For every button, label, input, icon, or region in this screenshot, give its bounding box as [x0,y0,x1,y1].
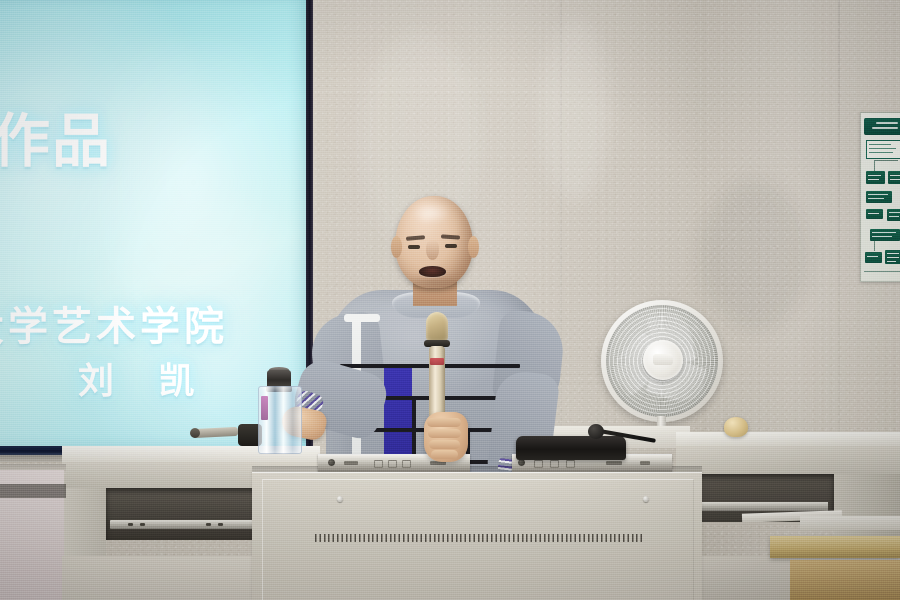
speaker-eye-right [445,244,457,248]
poster-note-box [866,140,900,159]
desk-left-slide-rail [110,520,260,529]
microphone-label [430,358,444,365]
finger [428,429,461,438]
rail-bolt [328,459,335,466]
wall-poster-flowchart [860,112,900,282]
speaker-ear-right [468,236,479,258]
fan-hub-badge [653,354,673,365]
gooseneck-microphone [588,424,604,439]
poster-connector [874,160,875,171]
speaker-nose [426,240,439,260]
finger [431,450,458,459]
speaker-eye-left [408,245,420,249]
poster-node [888,171,900,184]
poster-connector [874,241,875,251]
desk-left-drawer-cavity [106,488,266,540]
podium-ventilation-slots [315,534,645,542]
wood-desk-bottom-right [770,536,900,558]
poster-node [866,209,883,219]
podium-screw [337,496,343,502]
wooden-knob [724,417,748,437]
sweater-white-stripe-top [344,314,380,322]
electric-fan [601,300,723,442]
poster-node [885,250,900,264]
slide-organization: 大学艺术学院 [0,294,228,352]
poster-node [870,229,900,241]
shadow-band [0,484,66,498]
lecture-hall-photograph: 影作品 大学艺术学院 刘 凯 [0,0,900,600]
desk-right-slide-rail [688,502,828,511]
desk-right-apron [676,446,900,474]
scalp-highlight [411,202,451,224]
poster-connector [874,160,898,161]
microphone-head [426,312,448,342]
pointer-stick-tip [190,428,200,438]
wood-desk-shelf [800,516,900,530]
chair-seat [790,560,900,600]
podium-screw [643,496,649,502]
speaker-hand-right [424,412,468,462]
slide-title: 影作品 [0,94,112,178]
finger [427,418,461,427]
slide-speaker-name: 刘 凯 [78,352,211,404]
speaker-ear-left [391,236,402,258]
poster-border [864,271,900,272]
finger [429,440,460,449]
poster-node [866,191,892,203]
poster-node [866,171,885,184]
desk-right-top [676,432,900,446]
podium-cabinet [252,472,702,600]
bottle-label [261,396,268,420]
chin-shadow [406,274,462,290]
poster-node [865,252,882,263]
poster-header-bar [864,118,900,135]
poster-node [887,209,900,221]
black-equipment-case [516,436,626,460]
fan-hub [643,340,683,380]
water-bottle [258,370,300,452]
rail-bolt [518,459,525,466]
